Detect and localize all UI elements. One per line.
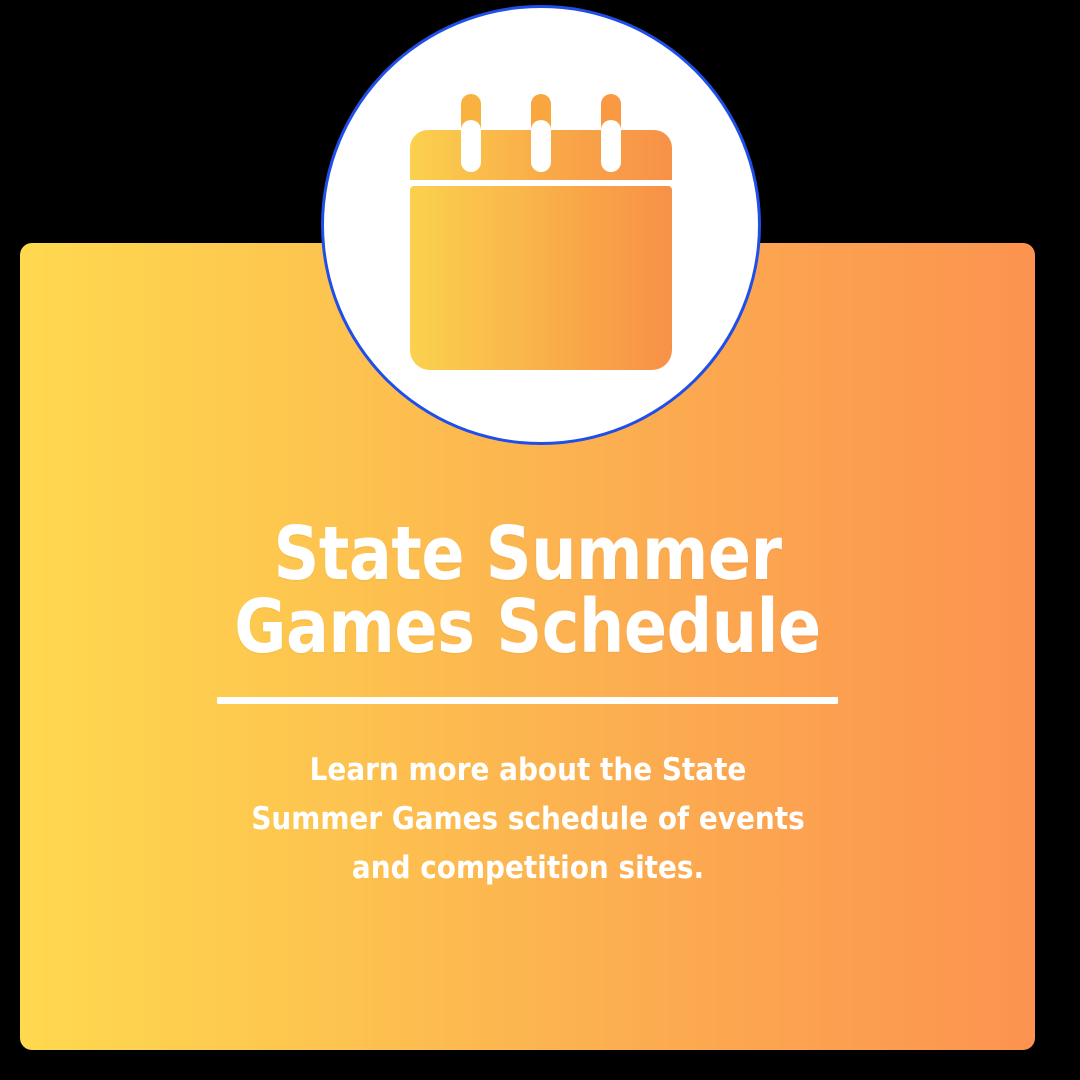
card-description: Learn more about the State Summer Games …: [240, 746, 816, 893]
calendar-body-panel: [410, 186, 672, 370]
page-canvas: State Summer Games Schedule Learn more a…: [0, 0, 1080, 1080]
calendar-post-inner-3: [601, 120, 621, 172]
title-divider: [217, 697, 838, 704]
page-title: State Summer Games Schedule: [168, 518, 886, 663]
card-content: State Summer Games Schedule Learn more a…: [20, 518, 1035, 893]
calendar-post-inner-1: [461, 120, 481, 172]
calendar-post-inner-2: [531, 120, 551, 172]
calendar-icon: [410, 94, 672, 370]
calendar-badge[interactable]: [324, 8, 758, 442]
